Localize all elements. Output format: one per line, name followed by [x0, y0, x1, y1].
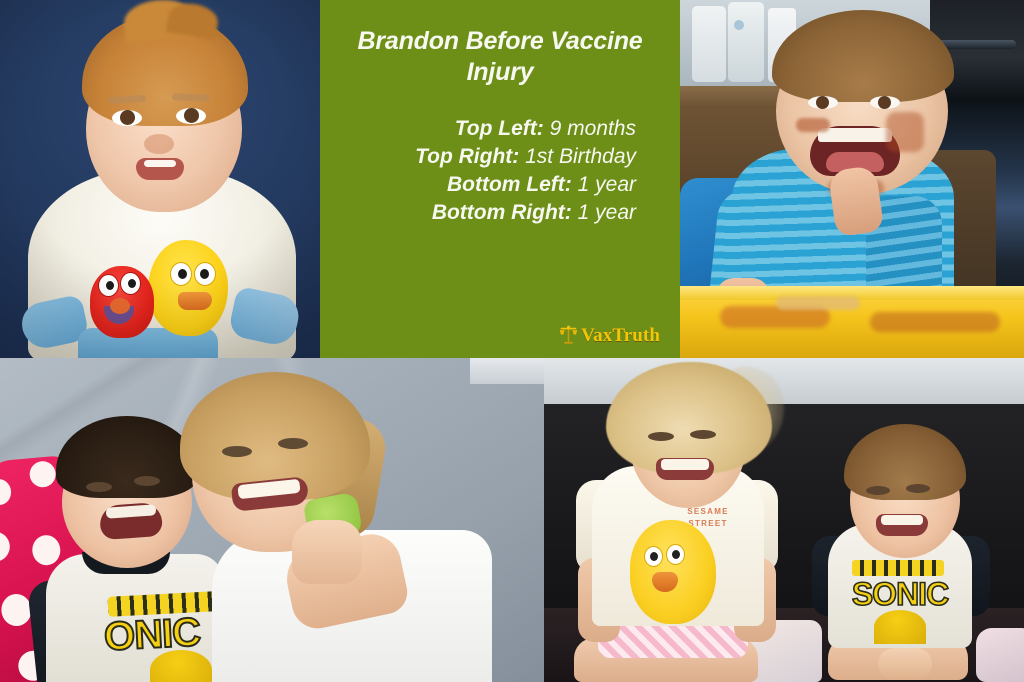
bottle-2	[728, 2, 764, 82]
girl-hand	[292, 520, 362, 584]
girl-eye-right	[278, 438, 308, 449]
scales-of-justice-icon	[559, 325, 578, 346]
photo-collage: ONIC SESAME STREET	[0, 0, 1024, 682]
caption-value: 1 year	[578, 201, 636, 224]
caption-label: Bottom Left:	[447, 173, 572, 196]
iris-right	[878, 96, 891, 109]
caption-value: 1st Birthday	[525, 145, 636, 168]
caption-label: Top Left:	[455, 117, 544, 140]
girl-eye-left	[222, 446, 252, 457]
tray-food-2	[776, 296, 860, 310]
photo-bottom-right: SESAME STREET SONIC	[544, 358, 1024, 682]
caption-list: Top Left: 9 months Top Right: 1st Birthd…	[336, 115, 664, 227]
iris-left	[816, 96, 829, 109]
caption-label: Top Right:	[415, 145, 519, 168]
tray-food-3	[870, 312, 1000, 332]
toddler-shirt-ball	[874, 610, 926, 644]
photo-vignette	[0, 0, 320, 358]
oven-handle	[938, 40, 1016, 49]
caption-row-bottom-left: Bottom Left: 1 year	[336, 171, 636, 199]
girl-eye-left	[648, 432, 674, 441]
caption-panel: Brandon Before Vaccine Injury Top Left: …	[320, 0, 680, 358]
big-bird-pupil-left	[650, 552, 658, 561]
caption-value: 9 months	[550, 117, 636, 140]
toddler-eye-left	[866, 486, 890, 495]
caption-row-top-left: Top Left: 9 months	[336, 115, 636, 143]
bottle-1	[692, 6, 726, 82]
caption-row-top-right: Top Right: 1st Birthday	[336, 143, 636, 171]
teeth	[818, 128, 892, 142]
toddler-shirt-ball	[150, 650, 212, 682]
girl-eye-right	[690, 430, 716, 439]
photo-top-left	[0, 0, 320, 358]
background-wall	[470, 358, 544, 384]
pillow-dot	[0, 593, 33, 627]
toddler-eye-right	[134, 476, 160, 486]
watermark: VaxTruth	[336, 325, 664, 350]
pillow-dot	[31, 534, 62, 566]
caption-value: 1 year	[578, 173, 636, 196]
toddler-shirt-text: SONIC	[848, 574, 952, 614]
blanket-2	[976, 628, 1024, 682]
toddler-feet	[878, 648, 932, 680]
caption-row-bottom-right: Bottom Right: 1 year	[336, 199, 636, 227]
photo-bottom-left: ONIC	[0, 358, 544, 682]
pillow-dot	[29, 460, 57, 488]
toddler-eye-right	[906, 484, 930, 493]
collage-title: Brandon Before Vaccine Injury	[336, 26, 664, 87]
big-bird-pupil-right	[672, 550, 680, 559]
toddler-eye-left	[86, 482, 112, 492]
girl-teeth	[661, 459, 709, 470]
sauce-smudge-1	[796, 118, 830, 132]
caption-label: Bottom Right:	[432, 201, 572, 224]
watermark-text: VaxTruth	[581, 325, 660, 346]
toddler-teeth	[881, 515, 923, 525]
photo-top-right	[680, 0, 1024, 358]
pillow-dot	[0, 530, 11, 563]
sauce-smudge-2	[886, 112, 924, 152]
pillow-dot	[0, 478, 12, 506]
